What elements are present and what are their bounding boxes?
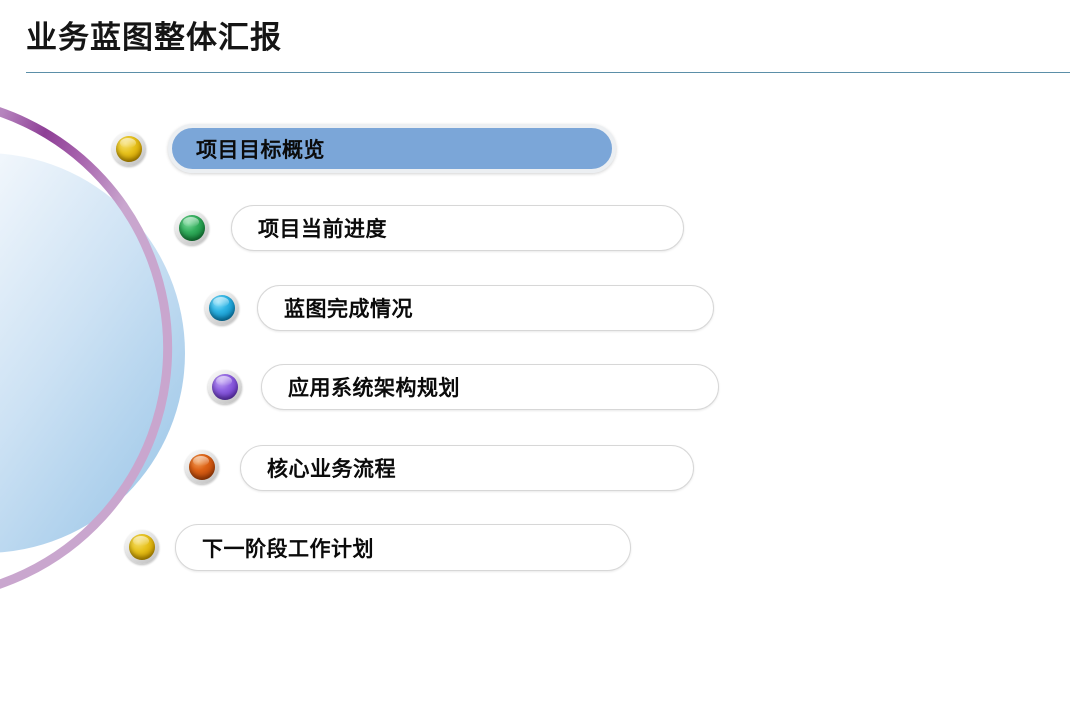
bullet-ball	[209, 295, 235, 321]
bullet-ball	[129, 534, 155, 560]
bullet-circle-green[interactable]	[175, 211, 209, 245]
bullet-circle-gold-2[interactable]	[125, 530, 159, 564]
agenda-label-4: 应用系统架构规划	[288, 372, 460, 402]
bullet-circle-cyan[interactable]	[205, 291, 239, 325]
agenda-label-6: 下一阶段工作计划	[202, 533, 374, 563]
bullet-ball	[189, 454, 215, 480]
agenda-label-1: 项目目标概览	[196, 134, 325, 164]
bullet-circle-purple[interactable]	[208, 370, 242, 404]
bullet-ball	[179, 215, 205, 241]
agenda-pill-1[interactable]: 项目目标概览	[168, 124, 616, 173]
slide-canvas: 业务蓝图整体汇报	[0, 0, 1080, 720]
agenda-pill-6[interactable]: 下一阶段工作计划	[175, 524, 631, 571]
agenda-label-5: 核心业务流程	[267, 453, 396, 483]
bullet-circle-gold-1[interactable]	[112, 132, 146, 166]
agenda-pill-3[interactable]: 蓝图完成情况	[257, 285, 714, 331]
bullet-circle-orange[interactable]	[185, 450, 219, 484]
agenda-label-2: 项目当前进度	[258, 213, 387, 243]
agenda-pill-4[interactable]: 应用系统架构规划	[261, 364, 719, 410]
bullet-ball	[116, 136, 142, 162]
gradient-disc	[0, 153, 185, 553]
page-title: 业务蓝图整体汇报	[26, 22, 282, 53]
agenda-pill-5[interactable]: 核心业务流程	[240, 445, 694, 491]
title-divider	[26, 72, 1070, 73]
agenda-pill-2[interactable]: 项目当前进度	[231, 205, 684, 251]
decor-shapes	[0, 99, 185, 597]
slide-header: 业务蓝图整体汇报	[0, 0, 1080, 80]
agenda-label-3: 蓝图完成情况	[284, 293, 413, 323]
bullet-ball	[212, 374, 238, 400]
